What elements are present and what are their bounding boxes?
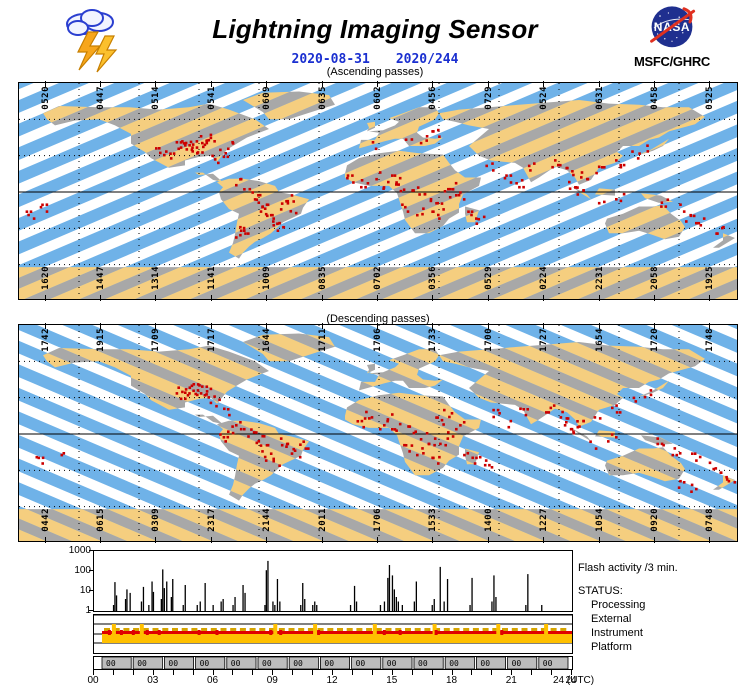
svg-text:00: 00 <box>356 659 366 668</box>
orbit-tick <box>654 537 655 543</box>
orbit-time-label: 2231 <box>596 266 605 290</box>
orbit-time-label: 1644 <box>263 328 272 352</box>
orbit-tick <box>432 295 433 301</box>
orbit-time-label: 1706 <box>374 508 383 532</box>
date-iso: 2020-08-31 <box>292 52 370 67</box>
orbit-time-label: 1720 <box>651 328 660 352</box>
svg-text:00: 00 <box>543 659 553 668</box>
y-axis-tick-label: 1000 <box>57 545 91 556</box>
flash-activity-plot <box>93 550 573 612</box>
orbit-time-label: 1654 <box>596 328 605 352</box>
orbit-time-label: 0702 <box>374 266 383 290</box>
y-axis-tick <box>89 570 93 571</box>
chart-legend: Flash activity /3 min. STATUS: Processin… <box>578 562 756 655</box>
orbit-time-label: 0602 <box>374 86 383 110</box>
orbit-time-label: 0514 <box>152 86 161 110</box>
y-axis-tick <box>89 590 93 591</box>
orbit-time-label: 1054 <box>596 508 605 532</box>
orbit-time-label: 0442 <box>42 508 51 532</box>
orbit-time-label: 1706 <box>374 328 383 352</box>
x-axis-tick-label: 18 <box>446 675 457 686</box>
orbit-tick <box>488 537 489 543</box>
x-axis-tick-label: 12 <box>326 675 337 686</box>
y-axis-tick <box>89 610 93 611</box>
orbit-time-label: 0447 <box>97 86 106 110</box>
orbit-time-label: 1700 <box>485 328 494 352</box>
orbit-tick <box>45 537 46 543</box>
orbit-tick <box>543 537 544 543</box>
page-header: Lightning Imaging Sensor 2020-08-312020/… <box>0 0 756 80</box>
orbit-time-label: 1447 <box>97 266 106 290</box>
y-axis-tick-label: 100 <box>57 565 91 576</box>
orbit-time-label: 0529 <box>485 266 494 290</box>
orbit-time-label: 2011 <box>319 508 328 532</box>
y-axis-tick-label: 1 <box>57 605 91 616</box>
orbit-time-label: 1733 <box>429 328 438 352</box>
orbit-time-label: 2144 <box>263 508 272 532</box>
orbit-time-label: 0631 <box>596 86 605 110</box>
orbit-tick <box>155 295 156 301</box>
x-axis-tick <box>551 670 552 675</box>
orbit-time-label: 0635 <box>319 86 328 110</box>
x-axis-tick-label: 06 <box>207 675 218 686</box>
svg-text:00: 00 <box>200 659 210 668</box>
svg-text:00: 00 <box>387 659 397 668</box>
legend-flash-activity: Flash activity /3 min. <box>578 562 756 575</box>
date-row: 2020-08-312020/244 <box>160 52 590 67</box>
x-axis-tick-label: 09 <box>267 675 278 686</box>
ascending-caption: (Ascending passes) <box>160 66 590 78</box>
x-axis-tick <box>173 670 174 675</box>
orbit-tick <box>377 537 378 543</box>
svg-text:00: 00 <box>137 659 147 668</box>
orbit-time-label: 1314 <box>152 266 161 290</box>
orbit-time-label: 0609 <box>263 86 272 110</box>
x-axis-tick <box>113 670 114 675</box>
page-title: Lightning Imaging Sensor <box>160 14 590 45</box>
date-doy: 2020/244 <box>396 52 459 67</box>
x-axis-tick <box>412 670 413 675</box>
x-axis-tick <box>252 670 253 675</box>
orbit-time-label: 0524 <box>540 86 549 110</box>
orbit-time-label: 0920 <box>651 508 660 532</box>
orbit-tick <box>709 295 710 301</box>
x-axis-tick <box>133 670 134 675</box>
x-axis-tick <box>232 670 233 675</box>
x-axis-tick <box>432 670 433 675</box>
orbit-time-label: 1925 <box>706 266 715 290</box>
nasa-center-label: MSFC/GHRC <box>628 54 716 69</box>
orbit-time-label: 0729 <box>485 86 494 110</box>
orbit-time-label: 1748 <box>706 328 715 352</box>
orbit-time-label: 1400 <box>485 508 494 532</box>
nasa-branding: NASA MSFC/GHRC <box>628 4 716 69</box>
orbit-tick <box>599 537 600 543</box>
orbit-time-label: 0520 <box>42 86 51 110</box>
svg-text:00: 00 <box>293 659 303 668</box>
orbit-tick <box>322 295 323 301</box>
orbit-time-label: 1709 <box>152 328 161 352</box>
orbit-tick <box>543 295 544 301</box>
orbit-tick <box>709 537 710 543</box>
orbit-time-label: 0356 <box>429 266 438 290</box>
orbit-tick <box>45 295 46 301</box>
x-axis-tick <box>193 670 194 675</box>
orbit-time-label: 1915 <box>97 328 106 352</box>
orbit-time-label: 0224 <box>540 266 549 290</box>
legend-status-title: STATUS: <box>578 585 756 598</box>
x-axis-tick-label: 15 <box>386 675 397 686</box>
orbit-time-label: 2058 <box>651 266 660 290</box>
orbit-time-label: 1742 <box>42 328 51 352</box>
orbit-time-label: 1141 <box>208 266 217 290</box>
y-axis-tick-label: 10 <box>57 585 91 596</box>
orbit-time-label: 0456 <box>429 86 438 110</box>
nasa-meatball-logo: NASA <box>642 4 702 52</box>
x-axis-tick <box>312 670 313 675</box>
svg-text:00: 00 <box>512 659 522 668</box>
svg-text:00: 00 <box>480 659 490 668</box>
orbit-time-label: 1009 <box>263 266 272 290</box>
orbit-tick <box>100 295 101 301</box>
y-axis-labels: 1101001000 <box>55 548 91 614</box>
svg-text:00: 00 <box>106 659 116 668</box>
svg-text:00: 00 <box>262 659 272 668</box>
orbit-time-label: 1620 <box>42 266 51 290</box>
orbit-tick <box>432 537 433 543</box>
platform-band-plot: 000000000000000000000000000000 <box>93 656 573 670</box>
orbit-tick <box>266 295 267 301</box>
orbit-tick <box>266 537 267 543</box>
thundercloud-lightning-icon <box>58 6 132 74</box>
svg-text:00: 00 <box>418 659 428 668</box>
orbit-time-label: 2317 <box>208 508 217 532</box>
orbit-time-label: 1727 <box>540 328 549 352</box>
orbit-time-label: 0615 <box>97 508 106 532</box>
orbit-time-label: 0309 <box>152 508 161 532</box>
flash-activity-chart: 1101001000 00000000000000000000000000000… <box>0 548 756 678</box>
svg-text:00: 00 <box>168 659 178 668</box>
orbit-time-label: 0541 <box>208 86 217 110</box>
x-axis-tick-label: 00 <box>87 675 98 686</box>
x-axis-tick <box>352 670 353 675</box>
orbit-tick <box>211 295 212 301</box>
orbit-tick <box>322 537 323 543</box>
orbit-time-label: 0525 <box>706 86 715 110</box>
orbit-tick <box>100 537 101 543</box>
x-axis: 000306091215182124 <box>93 670 574 686</box>
orbit-tick <box>488 295 489 301</box>
orbit-time-label: 0458 <box>651 86 660 110</box>
orbit-tick <box>211 537 212 543</box>
orbit-tick <box>155 537 156 543</box>
orbit-time-label: 1717 <box>208 328 217 352</box>
x-axis-tick <box>292 670 293 675</box>
x-axis-tick-label: 03 <box>147 675 158 686</box>
svg-text:00: 00 <box>231 659 241 668</box>
x-axis-tick <box>491 670 492 675</box>
legend-status-processing: Processing <box>578 599 756 612</box>
orbit-time-label: 1227 <box>540 508 549 532</box>
orbit-tick <box>599 295 600 301</box>
legend-status-instrument: Instrument <box>578 627 756 640</box>
x-axis-tick <box>372 670 373 675</box>
utc-axis-label: 24 (UTC) <box>553 675 594 686</box>
x-axis-tick-label: 21 <box>506 675 517 686</box>
orbit-time-label: 1711 <box>319 328 328 352</box>
legend-status-platform: Platform <box>578 641 756 654</box>
orbit-time-label: 1533 <box>429 508 438 532</box>
orbit-tick <box>654 295 655 301</box>
x-axis-tick <box>471 670 472 675</box>
x-axis-tick <box>531 670 532 675</box>
legend-status-external: External <box>578 613 756 626</box>
orbit-time-label: 0748 <box>706 508 715 532</box>
orbit-tick <box>377 295 378 301</box>
orbit-time-label: 0835 <box>319 266 328 290</box>
status-bands-plot <box>93 614 573 654</box>
y-axis-tick <box>89 550 93 551</box>
svg-text:00: 00 <box>449 659 459 668</box>
svg-text:00: 00 <box>324 659 334 668</box>
